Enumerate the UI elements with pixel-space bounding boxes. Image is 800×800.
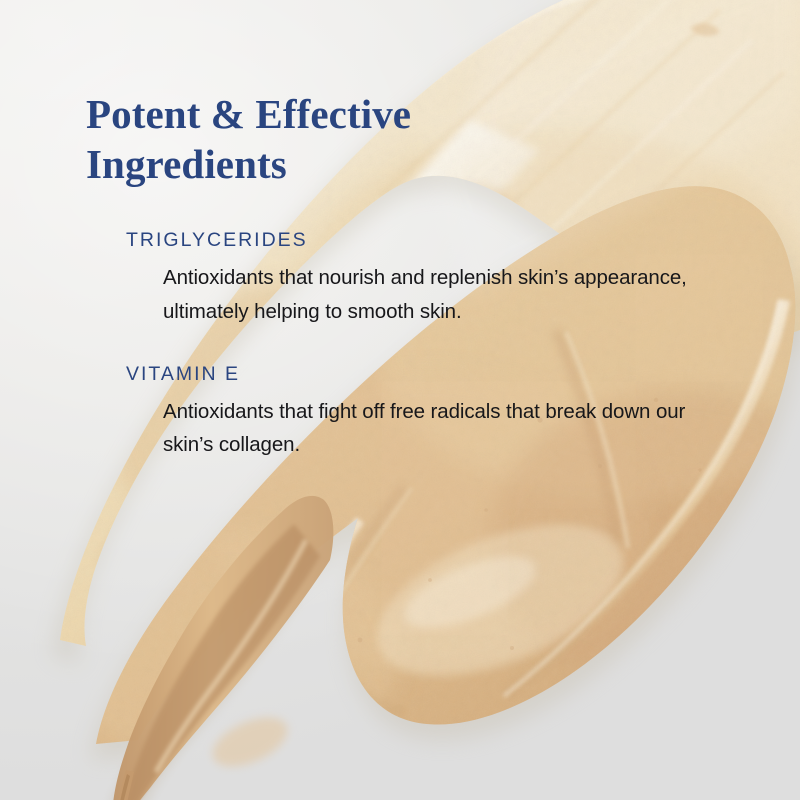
cream-droplet [205, 707, 294, 776]
ingredient-description: Antioxidants that nourish and replenish … [163, 261, 708, 327]
ingredient-list: TRIGLYCERIDES Antioxidants that nourish … [126, 228, 726, 462]
page-title-line-2: Ingredients [86, 139, 516, 189]
page-title: Potent & Effective Ingredients [86, 89, 516, 189]
ingredient-name: VITAMIN E [126, 362, 726, 387]
ingredient-item-triglycerides: TRIGLYCERIDES Antioxidants that nourish … [126, 228, 726, 328]
ingredient-description: Antioxidants that fight off free radical… [163, 395, 708, 461]
product-ingredients-graphic: Potent & Effective Ingredients TRIGLYCER… [0, 0, 800, 800]
ingredient-name: TRIGLYCERIDES [126, 228, 726, 253]
ingredient-item-vitamin-e: VITAMIN E Antioxidants that fight off fr… [126, 362, 726, 462]
page-title-line-1: Potent & Effective [86, 91, 411, 137]
